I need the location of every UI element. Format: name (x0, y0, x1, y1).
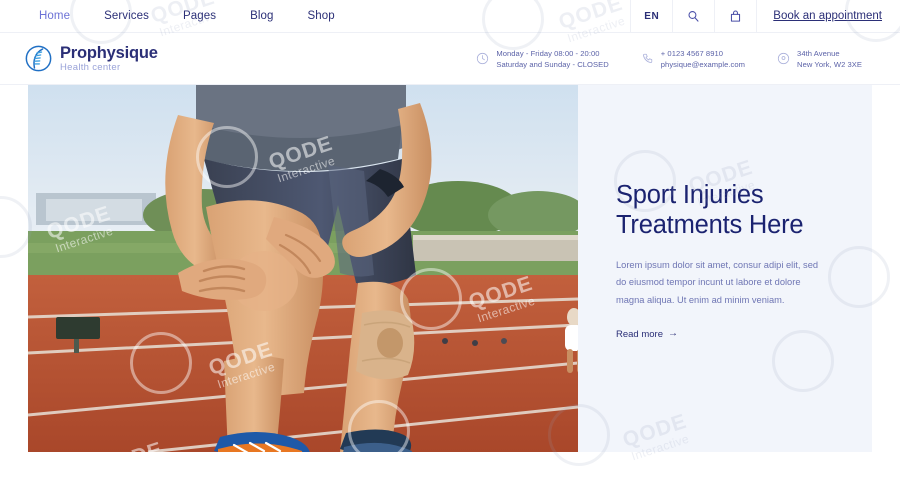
page-root: Home Services Pages Blog Shop EN (0, 0, 900, 497)
logo[interactable]: Prophysique Health center (0, 45, 158, 73)
clock-icon (476, 52, 489, 65)
nav-item-pages[interactable]: Pages (166, 10, 233, 22)
language-switcher[interactable]: EN (630, 0, 672, 33)
hours-weekend: Saturday and Sunday - CLOSED (496, 59, 608, 70)
address-city: New York, W2 3XE (797, 59, 862, 70)
logo-title: Prophysique (60, 45, 158, 62)
hero-section: Sport Injuries Treatments Here Lorem ips… (28, 85, 872, 452)
top-bar-utilities: EN Book an appo (630, 0, 900, 33)
book-appointment-link[interactable]: Book an appointment (757, 10, 900, 22)
language-label: EN (644, 11, 659, 22)
hero-image (28, 85, 578, 452)
shopping-bag-icon (728, 9, 743, 24)
cart-button[interactable] (714, 0, 756, 33)
contact-phone-email[interactable]: + 0123 4567 8910 physique@example.com (625, 48, 761, 70)
hero-content: Sport Injuries Treatments Here Lorem ips… (578, 85, 872, 452)
hours-weekday: Monday - Friday 08:00 - 20:00 (496, 48, 608, 59)
top-navigation-bar: Home Services Pages Blog Shop EN (0, 0, 900, 33)
read-more-label: Read more (616, 329, 663, 340)
contact-phone-email-text: + 0123 4567 8910 physique@example.com (661, 48, 745, 70)
hero-paragraph: Lorem ipsum dolor sit amet, consur adipi… (616, 257, 830, 309)
read-more-link[interactable]: Read more → (616, 329, 678, 340)
spine-logo-icon (25, 45, 52, 72)
contact-address: 34th Avenue New York, W2 3XE (761, 48, 878, 70)
arrow-right-icon: → (668, 329, 678, 339)
hero-title: Sport Injuries Treatments Here (616, 181, 872, 240)
header-contacts: Monday - Friday 08:00 - 20:00 Saturday a… (460, 48, 900, 70)
phone-number[interactable]: + 0123 4567 8910 (661, 48, 745, 59)
nav-item-services[interactable]: Services (87, 10, 166, 22)
map-pin-icon (777, 52, 790, 65)
logo-text: Prophysique Health center (60, 45, 158, 73)
appointment-cell: Book an appointment (756, 0, 900, 33)
email-address[interactable]: physique@example.com (661, 59, 745, 70)
nav-item-shop[interactable]: Shop (291, 10, 352, 22)
contact-hours: Monday - Friday 08:00 - 20:00 Saturday a… (460, 48, 624, 70)
hero-photo-illustration (28, 85, 578, 452)
contact-address-text: 34th Avenue New York, W2 3XE (797, 48, 862, 70)
phone-icon (641, 52, 654, 65)
search-button[interactable] (672, 0, 714, 33)
search-icon (686, 9, 701, 24)
site-header: Prophysique Health center Monday - Frida… (0, 33, 900, 85)
address-street: 34th Avenue (797, 48, 862, 59)
nav-item-blog[interactable]: Blog (233, 10, 290, 22)
contact-hours-text: Monday - Friday 08:00 - 20:00 Saturday a… (496, 48, 608, 70)
main-menu: Home Services Pages Blog Shop (0, 10, 352, 22)
nav-item-home[interactable]: Home (22, 10, 87, 22)
logo-subtitle: Health center (60, 63, 158, 73)
